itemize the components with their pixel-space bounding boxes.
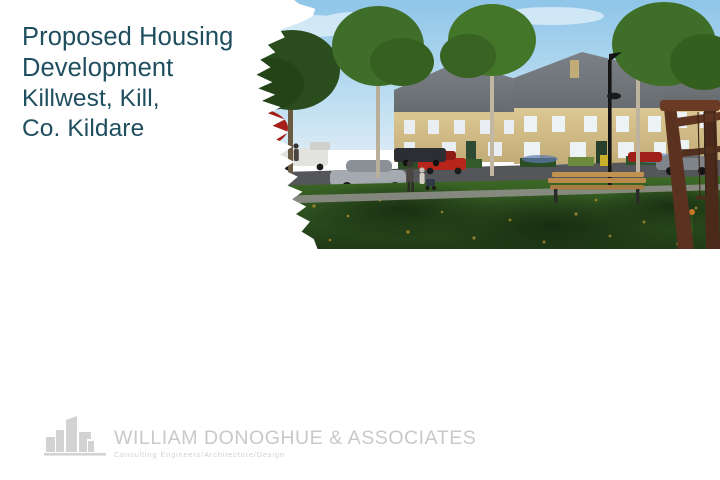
title-line-1: Proposed Housing (22, 22, 272, 53)
logo-company-name: WILLIAM DONOGHUE & ASSOCIATES (114, 428, 476, 448)
title-line-4: Co. Kildare (22, 114, 272, 144)
page-title: Proposed Housing Development Killwest, K… (22, 22, 272, 144)
door-left (466, 141, 476, 162)
pedestrian-distant (293, 143, 298, 161)
development-render-image (252, 0, 720, 249)
presentation-slide: Proposed Housing Development Killwest, K… (0, 0, 720, 480)
development-render-illustration (252, 0, 720, 249)
logo-tagline: Consulting Engineers/Architecture/Design (114, 450, 476, 459)
title-line-2: Development (22, 53, 272, 84)
title-line-3: Killwest, Kill, (22, 84, 272, 114)
chimney (570, 60, 579, 78)
company-logo: WILLIAM DONOGHUE & ASSOCIATES Consulting… (44, 406, 414, 462)
swing-seat (696, 196, 708, 199)
building-skyline-logo-mark (44, 416, 106, 462)
car-red-far (628, 152, 662, 162)
